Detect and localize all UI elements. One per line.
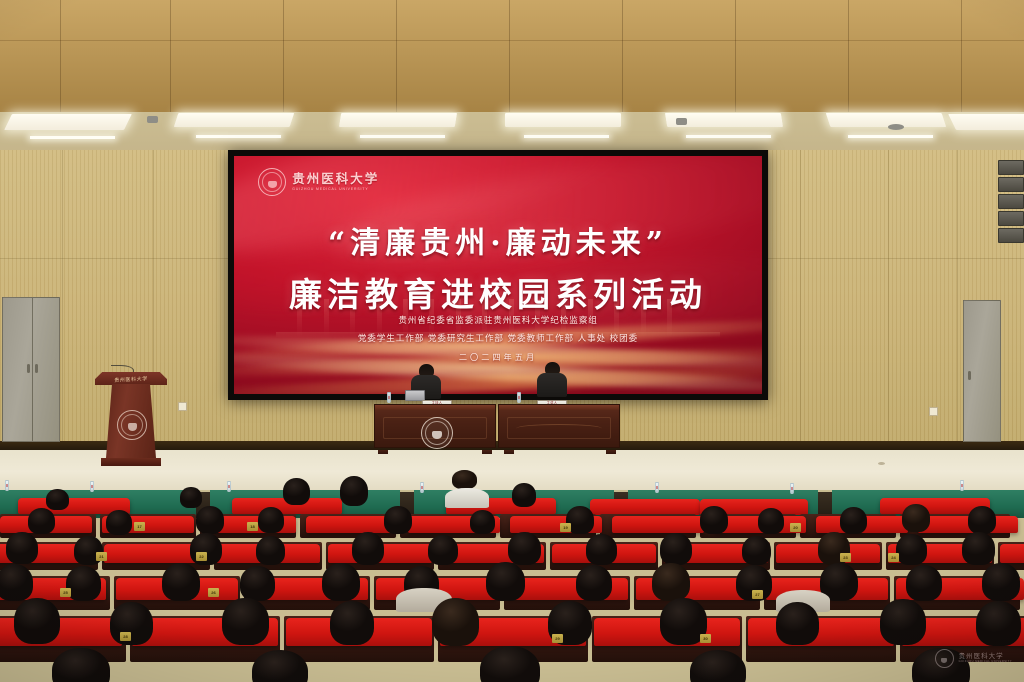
door-handle-icon[interactable]	[35, 364, 38, 373]
ceiling-speaker-icon	[888, 124, 904, 130]
audience-head	[432, 598, 479, 646]
audience-head	[968, 506, 996, 534]
head-table-right-section	[498, 404, 620, 448]
ceiling-light-strip	[360, 135, 445, 138]
seat-number-badge: 26	[208, 588, 219, 597]
audience-head	[480, 646, 540, 682]
audience-head	[252, 650, 308, 682]
recessed-ceiling-light-icon	[4, 114, 132, 130]
table-foot	[606, 450, 616, 454]
screen-subtitle-line1: 贵州省纪委省监委派驻贵州医科大学纪检监察组	[234, 314, 762, 326]
audience-head	[690, 650, 746, 682]
seat-number-badge: 29	[552, 634, 563, 643]
screen-university-logo: 贵州医科大学 GUIZHOU MEDICAL UNIVERSITY	[258, 168, 379, 196]
audience-head	[508, 532, 541, 565]
audience-head	[180, 487, 202, 508]
audience-head	[330, 601, 374, 645]
audience-head	[0, 564, 33, 601]
table-foot	[504, 450, 514, 454]
audience-head	[162, 563, 200, 601]
logo-name-cn: 贵州医科大学	[292, 173, 379, 186]
seat-number-badge: 25	[60, 588, 71, 597]
speaker-podium: 贵州医科大学	[95, 372, 167, 468]
audience-shoulders	[445, 488, 489, 508]
ceiling-seam	[60, 0, 61, 112]
door-handle-icon[interactable]	[27, 364, 30, 373]
door-split-line	[32, 298, 33, 441]
wall-outlet-plate	[929, 407, 938, 416]
auditorium-seat[interactable]	[1000, 544, 1024, 563]
audience-head	[222, 598, 269, 645]
table-foot	[378, 450, 388, 454]
seated-person	[532, 362, 572, 402]
seat-number-badge: 22	[196, 552, 207, 561]
ceiling-light-strip	[524, 135, 609, 138]
audience-head	[880, 599, 926, 645]
audience-seating: 17 18 19 20	[0, 470, 1024, 682]
auditorium-seat[interactable]	[590, 499, 700, 515]
water-bottle-icon	[5, 480, 9, 491]
water-bottle-icon	[517, 392, 521, 403]
ceiling-light-strip	[30, 136, 115, 139]
water-bottle-icon	[227, 481, 231, 492]
audience-head	[976, 601, 1021, 646]
audience-head	[962, 532, 995, 565]
auditorium-seat[interactable]	[612, 516, 704, 533]
screen-date-line: 二〇二四年五月	[234, 351, 762, 363]
ceiling-seam-horizontal	[0, 40, 1024, 41]
seat-number-badge: 21	[96, 552, 107, 561]
podium-body	[106, 384, 156, 458]
ceiling-light-strip	[848, 135, 933, 138]
logo-name-en: GUIZHOU MEDICAL UNIVERSITY	[292, 188, 379, 191]
audience-head	[742, 536, 771, 565]
audience-head	[322, 563, 360, 601]
audience-head	[258, 507, 284, 533]
door-left-double[interactable]	[2, 297, 60, 442]
water-bottle-icon	[655, 482, 659, 493]
recessed-ceiling-light-icon	[339, 113, 457, 127]
ceiling-wood-panels	[0, 0, 1024, 112]
wall-seam	[62, 150, 63, 450]
table-foot	[482, 450, 492, 454]
seat-number-badge: 24	[888, 553, 899, 562]
water-bottle-icon	[90, 481, 94, 492]
audience-head	[470, 510, 495, 534]
wall-seam	[888, 150, 889, 450]
screen-subtitle-block: 贵州省纪委省监委派驻贵州医科大学纪检监察组 党委学生工作部 党委研究生工作部 党…	[234, 314, 762, 363]
audience-head	[352, 532, 384, 565]
audience-head	[700, 506, 728, 534]
audience-head	[776, 602, 819, 645]
podium-base	[101, 458, 161, 466]
audience-head	[576, 565, 612, 601]
audience-head	[896, 534, 927, 565]
ceiling-seam	[622, 0, 623, 112]
university-seal-icon	[935, 649, 954, 668]
ceiling-seam	[396, 0, 397, 112]
audience-head	[586, 534, 617, 565]
audience-head	[110, 602, 153, 645]
audience-head	[660, 533, 692, 565]
wall-seam	[957, 150, 958, 450]
audience-head	[52, 648, 110, 682]
audience-head	[652, 563, 690, 601]
recessed-ceiling-light-icon	[826, 113, 947, 127]
auditorium-photo: 贵州医科大学 GUIZHOU MEDICAL UNIVERSITY “清廉贵州·…	[0, 0, 1024, 682]
audience-head	[982, 563, 1020, 601]
audience-head	[902, 504, 930, 532]
screen-subtitle-line2: 党委学生工作部 党委研究生工作部 党委教师工作部 人事处 校团委	[234, 332, 762, 344]
screen-title-block: “清廉贵州·廉动未来” 廉洁教育进校园系列活动	[234, 218, 762, 316]
recessed-ceiling-light-icon	[174, 113, 295, 127]
audience-head	[66, 566, 101, 601]
wall-seam	[800, 150, 801, 450]
audience-head	[14, 598, 60, 644]
screen-title-line2: 廉洁教育进校园系列活动	[234, 268, 762, 316]
seat-number-badge: 17	[134, 522, 145, 531]
ceiling-speaker-icon	[147, 116, 158, 123]
university-seal-icon	[421, 417, 453, 449]
audience-head	[46, 489, 69, 510]
ceiling-seam	[283, 0, 284, 112]
wall-outlet-plate	[178, 402, 187, 411]
led-stage-screen: 贵州医科大学 GUIZHOU MEDICAL UNIVERSITY “清廉贵州·…	[228, 150, 768, 400]
auditorium-seat[interactable]	[748, 618, 894, 646]
water-bottle-icon	[387, 392, 391, 403]
seat-number-badge: 27	[752, 590, 763, 599]
ceiling-seam	[848, 0, 849, 112]
watermark-name-cn: 贵州医科大学	[959, 653, 1012, 660]
ceiling-light-strip	[686, 135, 771, 138]
audience-head	[196, 506, 224, 534]
audience-head	[840, 507, 867, 534]
door-handle-icon[interactable]	[968, 371, 971, 380]
audience-head	[758, 508, 784, 534]
floor-mark	[878, 462, 885, 465]
ceiling-seam	[170, 0, 171, 112]
person-body	[537, 373, 567, 397]
recessed-ceiling-light-icon	[948, 114, 1024, 130]
ceiling-speaker-icon	[676, 118, 687, 125]
ceiling-seam	[961, 0, 962, 112]
ceiling-seam	[509, 0, 510, 112]
university-seal-icon	[258, 168, 286, 196]
led-screen-content: 贵州医科大学 GUIZHOU MEDICAL UNIVERSITY “清廉贵州·…	[234, 156, 762, 394]
audience-head	[106, 510, 132, 535]
ceiling-seam	[735, 0, 736, 112]
audience-head	[384, 506, 412, 534]
audience-head	[486, 562, 525, 601]
water-bottle-icon	[960, 480, 964, 491]
seat-number-badge: 30	[700, 634, 711, 643]
screen-title-line1: “清廉贵州·廉动未来”	[234, 218, 762, 262]
audience-head	[28, 508, 55, 534]
head-table-left-section	[374, 404, 496, 448]
seat-number-badge: 28	[120, 632, 131, 641]
seat-number-badge: 20	[790, 523, 801, 532]
ceiling-light-strip	[196, 135, 281, 138]
door-right-single[interactable]	[963, 300, 1001, 442]
audience-head	[256, 536, 285, 565]
water-bottle-icon	[420, 482, 424, 493]
audience-head	[283, 478, 310, 505]
photo-watermark: 贵州医科大学 GUIZHOU MEDICAL UNIVERSITY	[935, 649, 1012, 668]
audience-head	[240, 566, 275, 601]
head-table: 主持人 主讲人	[374, 398, 620, 450]
audience-head	[906, 565, 942, 601]
recessed-ceiling-light-icon	[505, 113, 621, 127]
university-seal-icon	[117, 410, 147, 440]
seat-number-badge: 18	[247, 522, 258, 531]
seat-number-badge: 19	[560, 523, 571, 532]
audience-head	[340, 476, 368, 506]
watermark-name-en: GUIZHOU MEDICAL UNIVERSITY	[959, 661, 1012, 664]
water-bottle-icon	[790, 483, 794, 494]
audience-head	[512, 483, 536, 507]
audience-head	[428, 535, 458, 565]
seat-number-badge: 23	[840, 553, 851, 562]
audience-head	[6, 532, 38, 564]
audience-head	[452, 470, 477, 489]
